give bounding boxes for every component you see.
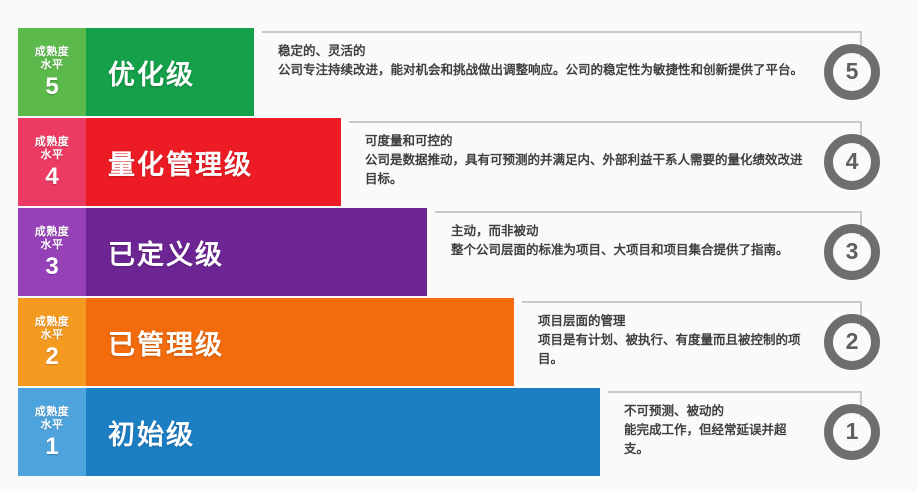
level-bar-title-3: 已定义级 — [108, 233, 224, 272]
level-strip-caption-line1: 成熟度 — [35, 226, 70, 239]
level-description-5: 稳定的、灵活的 公司专注持续改进，能对机会和挑战做出调整响应。公司的稳定性为敏捷… — [262, 28, 816, 116]
level-strip-caption-line1: 成熟度 — [35, 406, 70, 419]
level-bar-2: 已管理级 — [86, 298, 514, 386]
level-bar-4: 量化管理级 — [86, 118, 341, 206]
level-strip-2: 成熟度 水平 2 — [18, 298, 86, 386]
level-description-body-2: 项目是有计划、被执行、有度量而且被控制的项目。 — [538, 331, 808, 369]
level-strip-number-1: 1 — [45, 434, 58, 460]
level-strip-caption-line2: 水平 — [41, 239, 64, 252]
level-description-3: 主动，而非被动 整个公司层面的标准为项目、大项目和项目集合提供了指南。 — [435, 208, 816, 296]
level-ring-number-4: 4 — [846, 150, 859, 173]
level-ring-5: 5 — [824, 44, 880, 100]
cmmi-maturity-staircase: 成熟度 水平 5 优化级 稳定的、灵活的 公司专注持续改进，能对机会和挑战做出调… — [0, 0, 917, 492]
level-description-body-4: 公司是数据推动，具有可预测的并满足内、外部利益干系人需要的量化绩效改进目标。 — [365, 151, 808, 189]
level-description-1: 不可预测、被动的 能完成工作，但经常延误并超支。 — [608, 388, 816, 476]
maturity-level-row-5: 成熟度 水平 5 优化级 稳定的、灵活的 公司专注持续改进，能对机会和挑战做出调… — [0, 28, 917, 116]
level-strip-5: 成熟度 水平 5 — [18, 28, 86, 116]
level-ring-number-2: 2 — [846, 330, 859, 353]
maturity-level-row-4: 成熟度 水平 4 量化管理级 可度量和可控的 公司是数据推动，具有可预测的并满足… — [0, 118, 917, 206]
maturity-level-row-2: 成熟度 水平 2 已管理级 项目层面的管理 项目是有计划、被执行、有度量而且被控… — [0, 298, 917, 386]
level-strip-caption-line2: 水平 — [41, 419, 64, 432]
maturity-level-row-1: 成熟度 水平 1 初始级 不可预测、被动的 能完成工作，但经常延误并超支。 1 — [0, 388, 917, 476]
level-bar-3: 已定义级 — [86, 208, 427, 296]
level-description-head-1: 不可预测、被动的 — [624, 402, 808, 421]
level-strip-caption-line2: 水平 — [41, 59, 64, 72]
maturity-level-row-3: 成熟度 水平 3 已定义级 主动，而非被动 整个公司层面的标准为项目、大项目和项… — [0, 208, 917, 296]
level-strip-number-3: 3 — [45, 254, 58, 280]
level-strip-3: 成熟度 水平 3 — [18, 208, 86, 296]
level-strip-caption-line2: 水平 — [41, 329, 64, 342]
level-bar-title-1: 初始级 — [108, 413, 195, 452]
level-bar-title-4: 量化管理级 — [108, 143, 253, 182]
level-strip-caption-line1: 成熟度 — [35, 136, 70, 149]
level-description-head-3: 主动，而非被动 — [451, 222, 808, 241]
level-description-head-2: 项目层面的管理 — [538, 312, 808, 331]
level-strip-4: 成熟度 水平 4 — [18, 118, 86, 206]
level-bar-1: 初始级 — [86, 388, 600, 476]
level-description-body-1: 能完成工作，但经常延误并超支。 — [624, 421, 808, 459]
level-strip-caption-line1: 成熟度 — [35, 316, 70, 329]
level-bar-5: 优化级 — [86, 28, 254, 116]
level-description-head-5: 稳定的、灵活的 — [278, 42, 808, 61]
level-bar-title-2: 已管理级 — [108, 323, 224, 362]
level-strip-number-2: 2 — [45, 344, 58, 370]
level-strip-1: 成熟度 水平 1 — [18, 388, 86, 476]
level-ring-2: 2 — [824, 314, 880, 370]
level-strip-caption-line1: 成熟度 — [35, 46, 70, 59]
level-ring-number-3: 3 — [846, 240, 859, 263]
level-description-body-3: 整个公司层面的标准为项目、大项目和项目集合提供了指南。 — [451, 241, 808, 260]
level-strip-number-4: 4 — [45, 164, 58, 190]
level-description-4: 可度量和可控的 公司是数据推动，具有可预测的并满足内、外部利益干系人需要的量化绩… — [349, 118, 816, 206]
level-ring-number-5: 5 — [846, 60, 859, 83]
level-ring-number-1: 1 — [846, 420, 859, 443]
level-description-body-5: 公司专注持续改进，能对机会和挑战做出调整响应。公司的稳定性为敏捷性和创新提供了平… — [278, 61, 808, 80]
level-ring-1: 1 — [824, 404, 880, 460]
level-ring-4: 4 — [824, 134, 880, 190]
level-description-head-4: 可度量和可控的 — [365, 132, 808, 151]
level-description-2: 项目层面的管理 项目是有计划、被执行、有度量而且被控制的项目。 — [522, 298, 816, 386]
level-ring-3: 3 — [824, 224, 880, 280]
level-strip-number-5: 5 — [45, 74, 58, 100]
level-bar-title-5: 优化级 — [108, 53, 195, 92]
level-strip-caption-line2: 水平 — [41, 149, 64, 162]
